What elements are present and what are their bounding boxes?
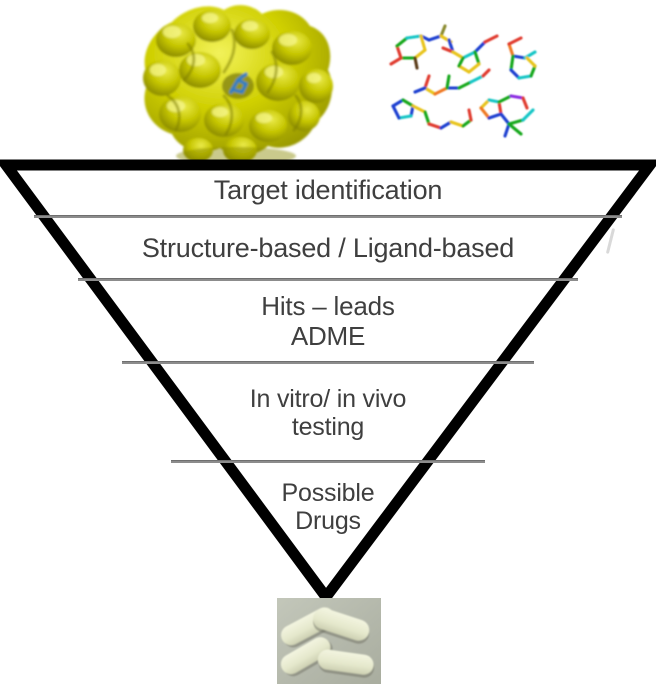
funnel-stage-label: In vitro/ in vivo testing <box>250 385 406 441</box>
drug-discovery-funnel-figure: Target identification Structure-based / … <box>0 0 656 684</box>
funnel-stage-list: Target identification Structure-based / … <box>0 163 656 595</box>
protein-surface-icon <box>128 0 344 163</box>
funnel-stage-label: Target identification <box>214 175 442 205</box>
funnel-stage-possible-drugs: Possible Drugs <box>0 462 656 552</box>
protein-surface-image <box>128 0 344 163</box>
small-molecule-structures-icon <box>385 14 555 146</box>
funnel-stage-label: Hits – leads ADME <box>261 292 394 350</box>
small-molecules-image <box>385 14 555 146</box>
funnel-stage-in-vitro-in-vivo-testing: In vitro/ in vivo testing <box>0 363 656 462</box>
funnel-stage-hits-leads-adme: Hits – leads ADME <box>0 280 656 363</box>
funnel-stage-label: Possible Drugs <box>282 479 375 535</box>
capsule-pills-image <box>277 598 381 684</box>
capsule-pills-icon <box>277 598 381 684</box>
top-artwork <box>0 0 656 163</box>
funnel-stage-structure-ligand-based: Structure-based / Ligand-based <box>0 217 656 280</box>
funnel-stage-label: Structure-based / Ligand-based <box>142 233 514 263</box>
funnel-stage-target-identification: Target identification <box>0 163 656 217</box>
